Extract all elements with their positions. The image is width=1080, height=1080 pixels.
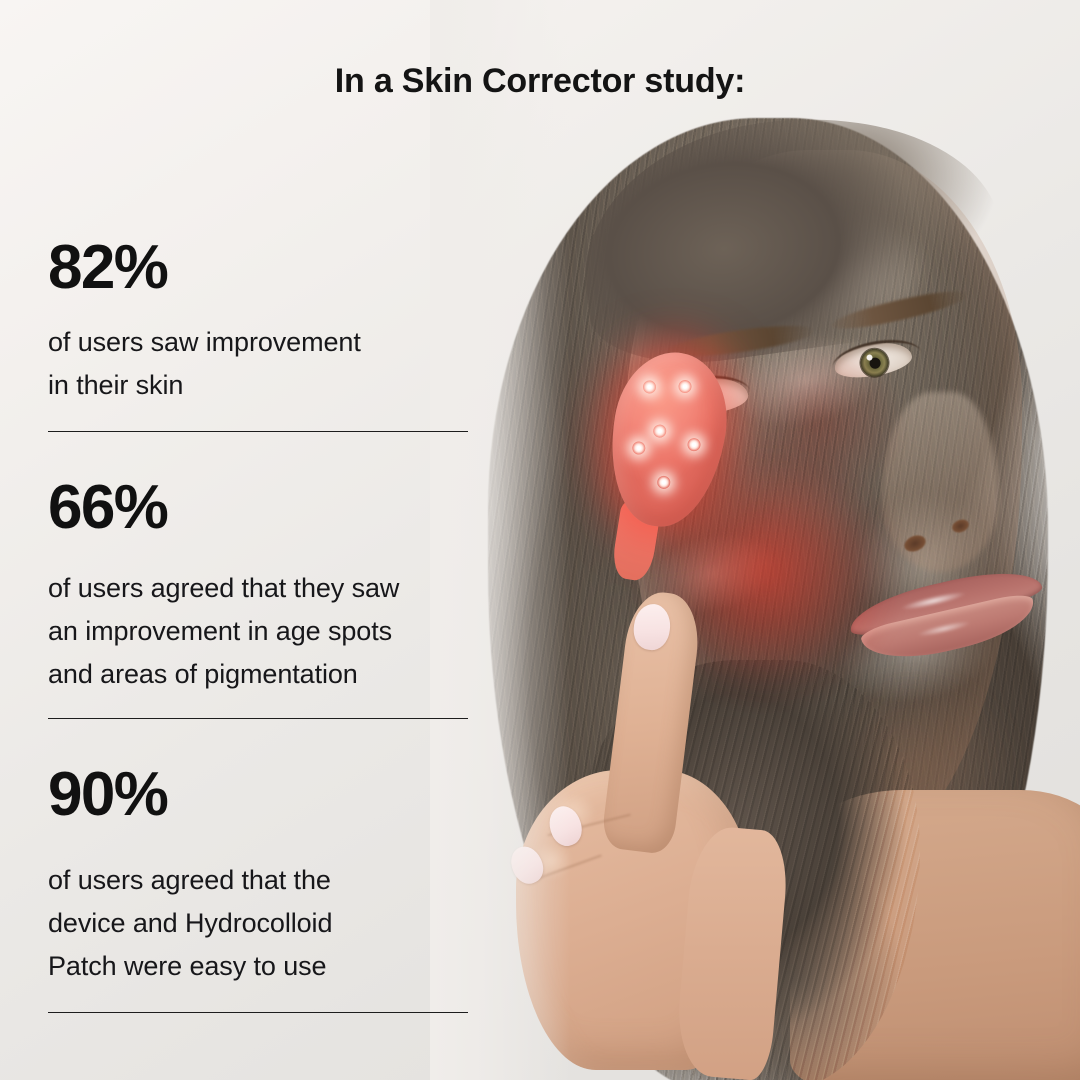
product-photo [430,0,1080,1080]
statistics-list: 82% of users saw improvement in their sk… [48,236,468,1013]
page-title: In a Skin Corrector study: [0,62,1080,101]
led-light [678,379,693,394]
infographic-canvas: In a Skin Corrector study: 82% of users … [0,0,1080,1080]
led-light [631,441,646,456]
led-light [642,380,657,395]
led-light [687,437,702,452]
hand [488,610,818,1080]
stat-description: of users saw improvement in their skin [48,321,468,407]
stat-percentage: 90% [48,763,468,826]
stat-divider [48,431,468,432]
led-light [656,475,671,490]
photo-content [430,0,1080,1080]
stat-description: of users agreed that the device and Hydr… [48,859,468,988]
stat-block: 82% of users saw improvement in their sk… [48,236,468,432]
stat-divider [48,1012,468,1013]
stat-percentage: 82% [48,236,468,299]
stat-block: 66% of users agreed that they saw an imp… [48,476,468,719]
stat-description: of users agreed that they saw an improve… [48,567,468,696]
stat-percentage: 66% [48,476,468,539]
stat-divider [48,718,468,719]
stat-block: 90% of users agreed that the device and … [48,763,468,1012]
led-light [652,424,667,439]
